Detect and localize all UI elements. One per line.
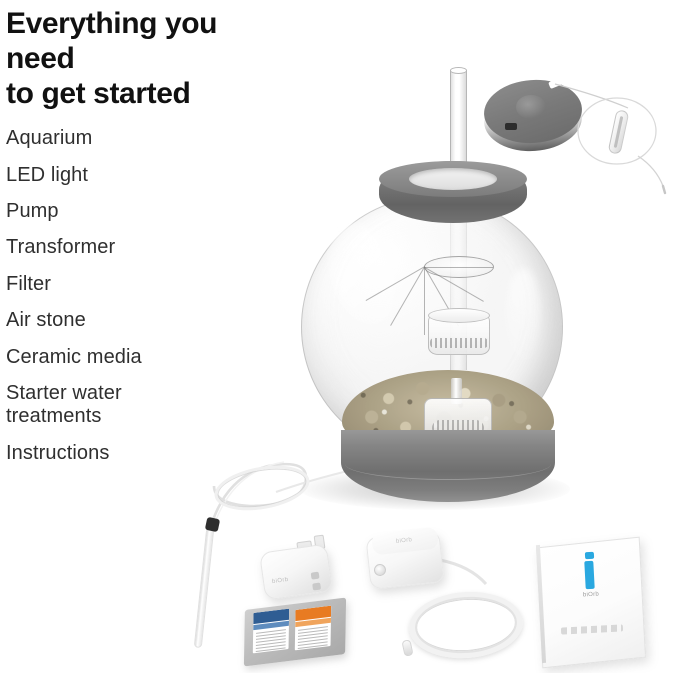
globe-highlight-right: [506, 268, 540, 364]
product-feature-image: biOrb biOrb: [0, 0, 679, 673]
transformer-plug: [259, 544, 333, 601]
feature-text-panel: Everything you need to get started Aquar…: [6, 0, 256, 478]
filter-cartridge-media-band: [430, 338, 488, 348]
list-item-pump: Pump: [6, 200, 256, 223]
led-lid-emboss: [516, 95, 546, 119]
list-item-ceramic-media: Ceramic media: [6, 346, 256, 369]
water-treatment-label-blue: [253, 609, 289, 654]
riser-tube-cap: [450, 67, 467, 74]
list-item-led-light: LED light: [6, 164, 256, 187]
list-item-air-stone: Air stone: [6, 309, 256, 332]
led-lid-cable-port: [505, 123, 517, 130]
page-title: Everything you need to get started: [6, 0, 256, 111]
tank-collar-opening: [409, 168, 497, 190]
water-treatment-label-orange: [295, 606, 331, 651]
list-item-aquarium: Aquarium: [6, 127, 256, 150]
list-item-transformer: Transformer: [6, 236, 256, 259]
booklet-logo-dot-icon: [585, 552, 594, 559]
list-item-instructions: Instructions: [6, 442, 256, 465]
list-item-starter-water-treatments: Starter water treatments: [6, 382, 256, 429]
filter-cartridge-lid: [428, 308, 490, 323]
label-body-lines-blue: [253, 626, 289, 654]
air-stone-clamp: [205, 517, 220, 532]
air-stone: [194, 528, 214, 648]
list-item-filter: Filter: [6, 273, 256, 296]
included-items-list: Aquarium LED light Pump Transformer Filt…: [6, 127, 256, 465]
power-cable-plug-tip: [401, 639, 413, 657]
booklet-logo-i-icon: [584, 561, 594, 589]
ceramic-media-plate-spokes: [424, 256, 494, 278]
label-body-lines-orange: [295, 623, 331, 651]
